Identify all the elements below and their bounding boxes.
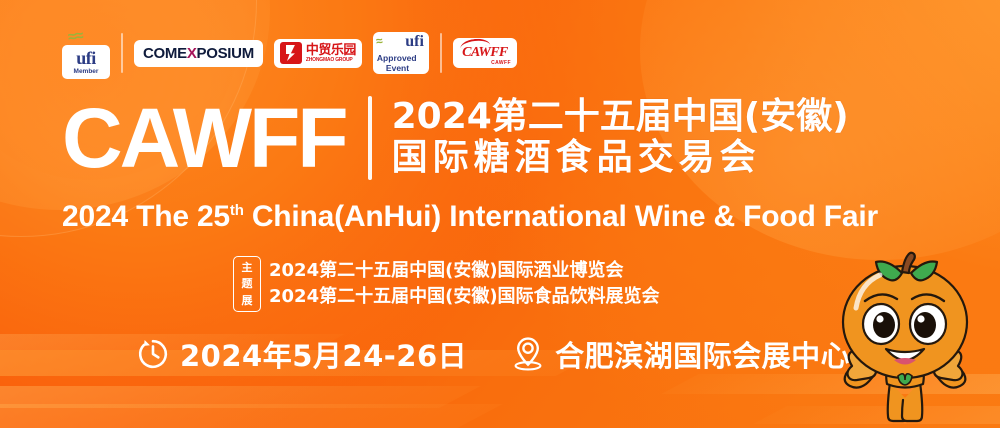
ufi-approved-label: ufi: [405, 34, 424, 50]
cawff-chip-sublabel: CAWFF: [491, 60, 511, 66]
english-title: 2024 The 25th China(AnHui) International…: [62, 200, 878, 234]
english-title-pre: 2024 The 25: [62, 200, 230, 233]
cawff-chip-label: CAWFF: [462, 46, 508, 60]
ufi-wing-icon: ≈≈: [67, 27, 84, 46]
sponsor-logo-comexposium: COMEXPOSIUM: [134, 40, 263, 67]
comexposium-part1: COME: [143, 45, 187, 62]
comexposium-part3: POSIUM: [197, 45, 254, 62]
ufi-member-label: ufi: [76, 49, 96, 67]
theme-line-wine-expo: 2024第二十五届中国(安徽)国际酒业博览会: [269, 259, 660, 283]
sponsor-logo-cawff: CAWFF CAWFF: [453, 38, 517, 68]
title-divider: [368, 96, 372, 180]
zhongmao-cn-label: 中贸乐园: [306, 43, 356, 56]
theme-exhibitions: 主 题 展 2024第二十五届中国(安徽)国际酒业博览会 2024第二十五届中国…: [233, 256, 660, 312]
theme-badge-char-1: 主: [242, 262, 253, 273]
sponsor-logo-ufi-member: ≈≈ ufi Member: [62, 27, 110, 79]
chinese-title-line-1: 2024第二十五届中国(安徽): [392, 98, 849, 137]
page-title-acronym: CAWFF: [62, 102, 346, 174]
theme-badge-char-2: 题: [242, 278, 253, 289]
chinese-title-line-2: 国际糖酒食品交易会: [392, 139, 849, 178]
theme-badge-char-3: 展: [242, 295, 253, 306]
event-venue: 合肥滨湖国际会展中心: [511, 333, 850, 375]
logo-divider: [121, 33, 123, 73]
chinese-title: 2024第二十五届中国(安徽) 国际糖酒食品交易会: [392, 98, 849, 178]
zhongmao-mark-icon: [280, 42, 302, 64]
background-ribbon: [0, 386, 481, 408]
english-title-post: China(AnHui) International Wine & Food F…: [244, 200, 878, 233]
event-date: 2024年5月24-26日: [136, 333, 467, 375]
orange-mascot: [816, 246, 994, 428]
ufi-member-sublabel: Member: [74, 69, 99, 76]
event-poster: ≈≈ ufi Member COMEXPOSIUM 中贸乐园 ZHONGMAO …: [0, 0, 1000, 428]
theme-line-food-expo: 2024第二十五届中国(安徽)国际食品饮料展览会: [269, 285, 660, 309]
comexposium-x: X: [187, 45, 197, 62]
ufi-approved-event-label: Event: [386, 64, 409, 73]
clock-icon: [136, 337, 170, 371]
event-date-text: 2024年5月24-26日: [180, 333, 467, 375]
ufi-wing-icon: ≈: [375, 34, 383, 49]
logo-divider: [440, 33, 442, 73]
event-venue-text: 合肥滨湖国际会展中心: [555, 333, 850, 375]
background-ribbon: [0, 404, 503, 428]
sponsor-logo-zhongmao: 中贸乐园 ZHONGMAO GROUP: [274, 39, 362, 68]
ufi-approved-sublabel: Approved: [377, 54, 417, 63]
theme-badge: 主 题 展: [233, 256, 261, 312]
event-info-row: 2024年5月24-26日 合肥滨湖国际会展中心: [136, 333, 850, 375]
zhongmao-en-label: ZHONGMAO GROUP: [306, 58, 356, 63]
english-title-ordinal: th: [230, 202, 244, 219]
sponsor-logo-bar: ≈≈ ufi Member COMEXPOSIUM 中贸乐园 ZHONGMAO …: [62, 27, 517, 79]
location-pin-icon: [511, 336, 545, 372]
main-title-lockup: CAWFF 2024第二十五届中国(安徽) 国际糖酒食品交易会: [62, 96, 849, 180]
sponsor-logo-ufi-approved: ≈ ufi Approved Event: [373, 32, 429, 74]
